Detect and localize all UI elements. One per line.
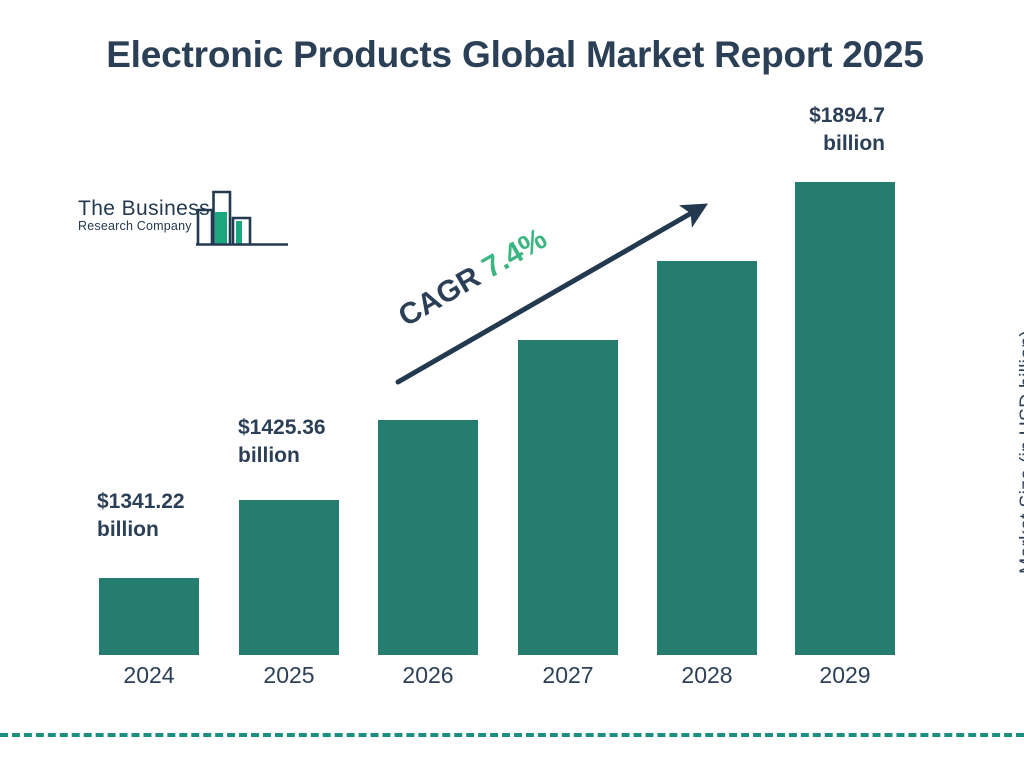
bar-2027 (518, 340, 618, 655)
bar-2026 (378, 420, 478, 655)
bar-2028 (657, 261, 757, 655)
y-axis-title: Market Size (in USD billion) (1016, 330, 1024, 574)
value-label-2025: $1425.36 billion (238, 414, 388, 470)
x-tick-2026: 2026 (373, 662, 483, 689)
bar-2029 (795, 182, 895, 655)
x-tick-2025: 2025 (234, 662, 344, 689)
x-tick-2029: 2029 (790, 662, 900, 689)
x-tick-2027: 2027 (513, 662, 623, 689)
bar-2024 (99, 578, 199, 655)
value-label-2029: $1894.7 billion (745, 102, 885, 158)
x-tick-2028: 2028 (652, 662, 762, 689)
value-label-2024: $1341.22 billion (97, 488, 237, 544)
chart-page: Electronic Products Global Market Report… (0, 0, 1024, 768)
footer-divider (0, 733, 1024, 737)
x-tick-2024: 2024 (94, 662, 204, 689)
bar-2025 (239, 500, 339, 655)
